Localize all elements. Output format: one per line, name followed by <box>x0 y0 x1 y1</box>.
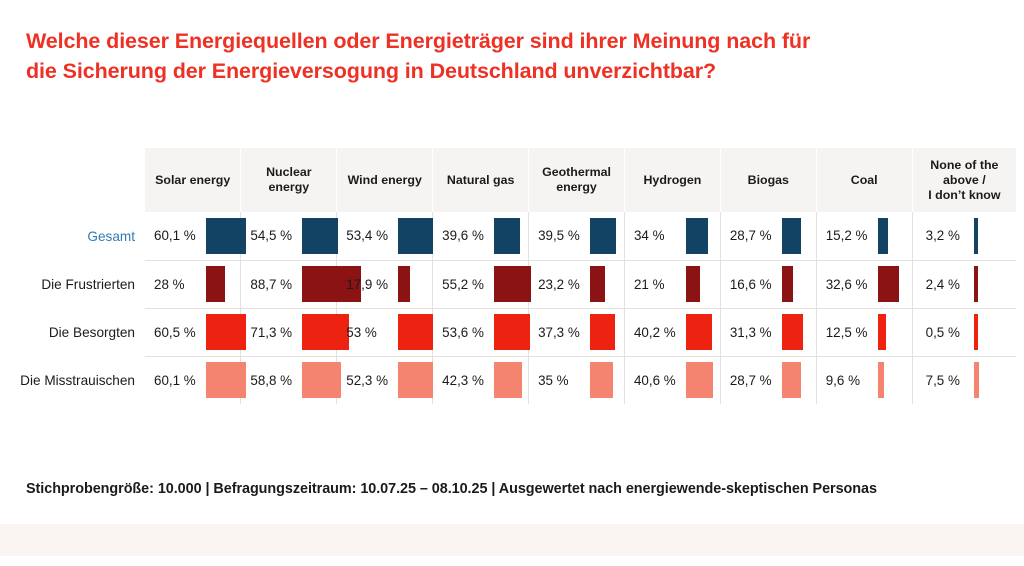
cell-value: 35 % <box>538 373 584 388</box>
cell-value: 23,2 % <box>538 277 584 292</box>
column-header[interactable]: Solar energy <box>145 148 241 212</box>
cell-content: 37,3 % <box>529 309 624 355</box>
value-bar <box>974 314 978 350</box>
cell-content: 28 % <box>145 261 240 307</box>
cell-content: 60,1 % <box>145 213 240 259</box>
cell-content: 15,2 % <box>817 213 912 259</box>
value-bar <box>494 266 530 302</box>
column-header-line: None of the <box>919 158 1011 173</box>
value-bar <box>974 362 979 398</box>
matrix-cell[interactable]: 40,6 % <box>624 356 720 404</box>
value-bar <box>686 314 713 350</box>
matrix-cell[interactable]: 16,6 % <box>720 260 816 308</box>
column-header-line: Hydrogen <box>631 173 714 188</box>
column-header[interactable]: Coal <box>816 148 912 212</box>
cell-content: 7,5 % <box>913 357 1017 403</box>
value-bar <box>878 266 900 302</box>
bottom-strip <box>0 556 1024 566</box>
cell-value: 71,3 % <box>250 325 296 340</box>
cell-value: 0,5 % <box>926 325 968 340</box>
page-title-line-1: Welche dieser Energiequellen oder Energi… <box>26 26 886 56</box>
matrix-cell[interactable]: 3,2 % <box>912 212 1016 260</box>
column-header[interactable]: Nuclearenergy <box>241 148 337 212</box>
cell-value: 40,2 % <box>634 325 680 340</box>
cell-value: 52,3 % <box>346 373 392 388</box>
matrix-cell[interactable]: 35 % <box>529 356 625 404</box>
column-header-line: Coal <box>823 173 906 188</box>
column-header-line: Wind energy <box>343 173 426 188</box>
cell-content: 53 % <box>337 309 432 355</box>
cell-value: 58,8 % <box>250 373 296 388</box>
cell-value: 54,5 % <box>250 228 296 243</box>
cell-value: 37,3 % <box>538 325 584 340</box>
value-bar <box>398 362 433 398</box>
value-bar <box>398 218 433 254</box>
matrix-cell[interactable]: 42,3 % <box>433 356 529 404</box>
matrix-cell[interactable]: 53,4 % <box>337 212 433 260</box>
cell-content: 54,5 % <box>241 213 336 259</box>
cell-content: 60,1 % <box>145 357 240 403</box>
value-bar <box>206 362 246 398</box>
cell-content: 39,6 % <box>433 213 528 259</box>
cell-value: 60,1 % <box>154 373 200 388</box>
column-header-line: Geothermal <box>535 165 618 180</box>
value-bar <box>878 362 884 398</box>
matrix-cell[interactable]: 28,7 % <box>720 356 816 404</box>
matrix-cell[interactable]: 53,6 % <box>433 308 529 356</box>
value-bar <box>494 314 529 350</box>
cell-value: 15,2 % <box>826 228 872 243</box>
cell-value: 88,7 % <box>250 277 296 292</box>
matrix-cell[interactable]: 32,6 % <box>816 260 912 308</box>
matrix-cell[interactable]: 31,3 % <box>720 308 816 356</box>
cell-value: 28,7 % <box>730 228 776 243</box>
cell-content: 53,6 % <box>433 309 528 355</box>
cell-value: 39,6 % <box>442 228 488 243</box>
table-row: Die Misstrauischen60,1 %58,8 %52,3 %42,3… <box>18 356 1016 404</box>
cell-content: 28,7 % <box>721 357 816 403</box>
column-header-line: above / <box>919 173 1011 188</box>
value-bar <box>782 314 803 350</box>
column-header-line: energy <box>535 180 618 195</box>
cell-value: 60,5 % <box>154 325 200 340</box>
cell-content: 9,6 % <box>817 357 912 403</box>
column-header[interactable]: Hydrogen <box>624 148 720 212</box>
cell-value: 60,1 % <box>154 228 200 243</box>
cell-content: 53,4 % <box>337 213 432 259</box>
value-bar <box>590 362 613 398</box>
matrix-cell[interactable]: 55,2 % <box>433 260 529 308</box>
column-header-line: Natural gas <box>439 173 522 188</box>
value-bar <box>590 218 616 254</box>
column-header[interactable]: Geothermalenergy <box>529 148 625 212</box>
row-label[interactable]: Die Besorgten <box>18 308 145 356</box>
column-header-line: Solar energy <box>151 173 234 188</box>
matrix-cell[interactable]: 28 % <box>145 260 241 308</box>
cell-value: 21 % <box>634 277 680 292</box>
value-bar <box>974 218 978 254</box>
cell-content: 71,3 % <box>241 309 336 355</box>
cell-value: 40,6 % <box>634 373 680 388</box>
cell-content: 52,3 % <box>337 357 432 403</box>
matrix-cell[interactable]: 2,4 % <box>912 260 1016 308</box>
matrix-cell[interactable]: 12,5 % <box>816 308 912 356</box>
value-bar <box>206 314 246 350</box>
cell-content: 35 % <box>529 357 624 403</box>
cell-content: 23,2 % <box>529 261 624 307</box>
value-bar <box>686 218 708 254</box>
matrix-cell[interactable]: 60,1 % <box>145 212 241 260</box>
cell-value: 3,2 % <box>926 228 968 243</box>
cell-content: 0,5 % <box>913 309 1017 355</box>
value-bar <box>302 314 349 350</box>
cell-value: 55,2 % <box>442 277 488 292</box>
cell-content: 39,5 % <box>529 213 624 259</box>
value-bar <box>878 314 886 350</box>
page-title-line-2: die Sicherung der Energieversogung in De… <box>26 56 886 86</box>
cell-value: 16,6 % <box>730 277 776 292</box>
matrix-cell[interactable]: 7,5 % <box>912 356 1016 404</box>
cell-value: 28 % <box>154 277 200 292</box>
matrix-table: Solar energyNuclearenergyWind energyNatu… <box>18 148 1016 404</box>
value-bar <box>878 218 888 254</box>
cell-value: 39,5 % <box>538 228 584 243</box>
matrix-cell[interactable]: 23,2 % <box>529 260 625 308</box>
cell-value: 9,6 % <box>826 373 872 388</box>
matrix-cell[interactable]: 88,7 % <box>241 260 337 308</box>
cell-value: 32,6 % <box>826 277 872 292</box>
cell-content: 42,3 % <box>433 357 528 403</box>
cell-content: 21 % <box>625 261 720 307</box>
column-header[interactable]: Biogas <box>720 148 816 212</box>
value-bar <box>398 266 410 302</box>
matrix-cell[interactable]: 28,7 % <box>720 212 816 260</box>
row-label[interactable]: Die Frustrierten <box>18 260 145 308</box>
column-header[interactable]: None of theabove /I don’t know <box>912 148 1016 212</box>
bottom-band <box>0 524 1024 556</box>
matrix-cell[interactable]: 60,5 % <box>145 308 241 356</box>
value-bar <box>782 362 801 398</box>
cell-content: 88,7 % <box>241 261 336 307</box>
value-bar <box>494 218 520 254</box>
value-bar <box>974 266 978 302</box>
value-bar <box>590 266 605 302</box>
cell-value: 53 % <box>346 325 392 340</box>
cell-content: 40,6 % <box>625 357 720 403</box>
cell-value: 53,6 % <box>442 325 488 340</box>
matrix-cell[interactable]: 21 % <box>624 260 720 308</box>
matrix-cell[interactable]: 0,5 % <box>912 308 1016 356</box>
cell-content: 3,2 % <box>913 213 1017 259</box>
cell-value: 31,3 % <box>730 325 776 340</box>
cell-value: 42,3 % <box>442 373 488 388</box>
matrix-cell[interactable]: 40,2 % <box>624 308 720 356</box>
cell-content: 58,8 % <box>241 357 336 403</box>
cell-content: 12,5 % <box>817 309 912 355</box>
cell-content: 40,2 % <box>625 309 720 355</box>
value-bar <box>302 218 338 254</box>
header-cell-row-labels <box>18 148 145 212</box>
matrix-cell[interactable]: 52,3 % <box>337 356 433 404</box>
cell-value: 12,5 % <box>826 325 872 340</box>
column-header[interactable]: Natural gas <box>433 148 529 212</box>
table-row: Gesamt60,1 %54,5 %53,4 %39,6 %39,5 %34 %… <box>18 212 1016 260</box>
matrix-cell[interactable]: 71,3 % <box>241 308 337 356</box>
cell-value: 17,9 % <box>346 277 392 292</box>
table-row: Die Besorgten60,5 %71,3 %53 %53,6 %37,3 … <box>18 308 1016 356</box>
matrix-cell[interactable]: 53 % <box>337 308 433 356</box>
page-title: Welche dieser Energiequellen oder Energi… <box>26 26 886 86</box>
column-header-line: energy <box>247 180 330 195</box>
value-bar <box>590 314 615 350</box>
cell-value: 28,7 % <box>730 373 776 388</box>
data-matrix: Solar energyNuclearenergyWind energyNatu… <box>18 148 1008 406</box>
cell-content: 55,2 % <box>433 261 528 307</box>
value-bar <box>782 218 801 254</box>
column-header-line: Biogas <box>727 173 810 188</box>
matrix-cell[interactable]: 37,3 % <box>529 308 625 356</box>
row-label[interactable]: Die Misstrauischen <box>18 356 145 404</box>
column-header[interactable]: Wind energy <box>337 148 433 212</box>
value-bar <box>782 266 793 302</box>
header-row: Solar energyNuclearenergyWind energyNatu… <box>18 148 1016 212</box>
cell-value: 2,4 % <box>926 277 968 292</box>
cell-content: 31,3 % <box>721 309 816 355</box>
cell-content: 32,6 % <box>817 261 912 307</box>
value-bar <box>206 218 246 254</box>
row-label[interactable]: Gesamt <box>18 212 145 260</box>
cell-content: 16,6 % <box>721 261 816 307</box>
column-header-line: Nuclear <box>247 165 330 180</box>
matrix-cell[interactable]: 39,5 % <box>529 212 625 260</box>
cell-content: 60,5 % <box>145 309 240 355</box>
cell-value: 53,4 % <box>346 228 392 243</box>
matrix-header: Solar energyNuclearenergyWind energyNatu… <box>18 148 1016 212</box>
value-bar <box>206 266 225 302</box>
matrix-cell[interactable]: 60,1 % <box>145 356 241 404</box>
value-bar <box>494 362 522 398</box>
matrix-cell[interactable]: 34 % <box>624 212 720 260</box>
matrix-cell[interactable]: 54,5 % <box>241 212 337 260</box>
cell-value: 34 % <box>634 228 680 243</box>
matrix-cell[interactable]: 39,6 % <box>433 212 529 260</box>
matrix-cell[interactable]: 58,8 % <box>241 356 337 404</box>
cell-value: 7,5 % <box>926 373 968 388</box>
cell-content: 34 % <box>625 213 720 259</box>
value-bar <box>686 362 713 398</box>
matrix-cell[interactable]: 9,6 % <box>816 356 912 404</box>
table-row: Die Frustrierten28 %88,7 %17,9 %55,2 %23… <box>18 260 1016 308</box>
cell-content: 2,4 % <box>913 261 1017 307</box>
slide-canvas: Welche dieser Energiequellen oder Energi… <box>0 0 1024 566</box>
cell-content: 28,7 % <box>721 213 816 259</box>
value-bar <box>302 362 341 398</box>
matrix-cell[interactable]: 15,2 % <box>816 212 912 260</box>
value-bar <box>398 314 433 350</box>
footnote: Stichprobengröße: 10.000 | Befragungszei… <box>26 481 877 497</box>
value-bar <box>686 266 700 302</box>
column-header-line: I don’t know <box>919 188 1011 203</box>
matrix-body: Gesamt60,1 %54,5 %53,4 %39,6 %39,5 %34 %… <box>18 212 1016 404</box>
